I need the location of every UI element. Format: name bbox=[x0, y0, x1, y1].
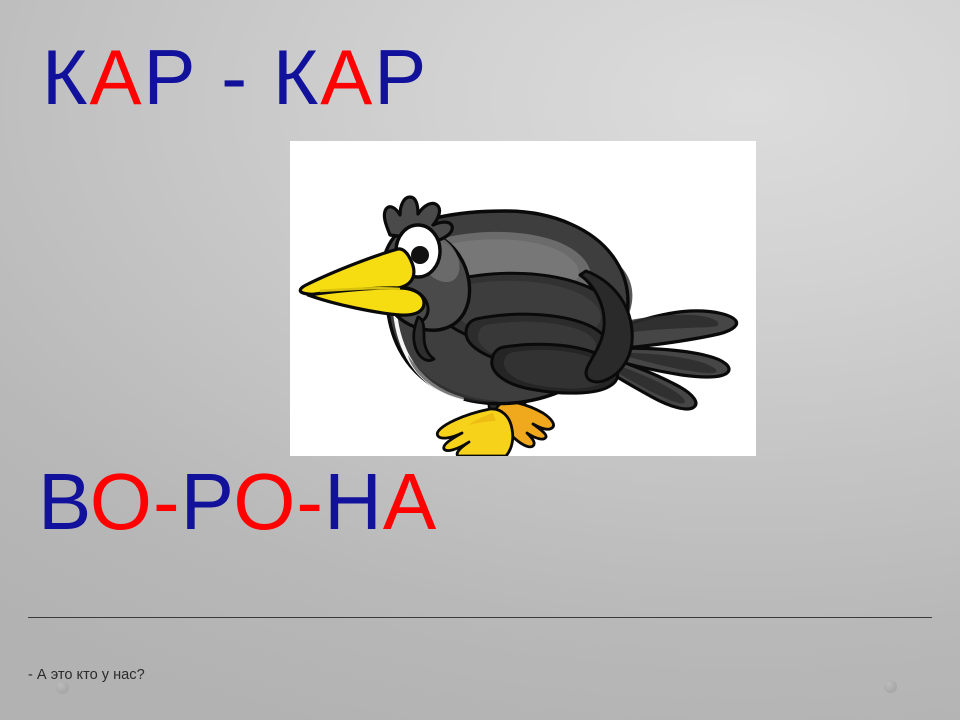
title-top-letter-k2: К bbox=[273, 33, 320, 121]
title-bottom-hyphen-1: - bbox=[153, 457, 181, 546]
title-top-letter-r1: Р bbox=[143, 33, 197, 121]
title-bottom-letter-n: Н bbox=[324, 457, 383, 546]
slide-canvas: КАР - КАР bbox=[0, 0, 960, 720]
notes-text-block: - А это кто у нас? - Давай прочитаем сна… bbox=[28, 622, 938, 720]
notes-line-1: - А это кто у нас? bbox=[28, 665, 938, 687]
title-top-letter-a1: А bbox=[89, 33, 143, 121]
title-top-letter-a2: А bbox=[320, 33, 374, 121]
crow-image-frame bbox=[290, 141, 756, 456]
title-bottom-letter-a: А bbox=[383, 457, 437, 546]
bullet-dot-left-icon bbox=[56, 681, 69, 694]
title-top-dash: - bbox=[198, 33, 273, 121]
title-bottom-letter-r: Р bbox=[181, 457, 234, 546]
title-bottom-letter-o1: О bbox=[90, 457, 153, 546]
bullet-dot-right-icon bbox=[884, 680, 897, 693]
page-title-bottom: ВО-РО-НА bbox=[38, 462, 437, 542]
title-bottom-hyphen-2: - bbox=[296, 457, 324, 546]
title-top-letter-k1: К bbox=[42, 33, 89, 121]
title-bottom-letter-o2: О bbox=[233, 457, 296, 546]
title-top-letter-r2: Р bbox=[374, 33, 428, 121]
title-bottom-letter-v: В bbox=[38, 457, 90, 546]
crow-illustration-icon bbox=[290, 141, 756, 456]
horizontal-rule bbox=[28, 617, 932, 618]
page-title-top: КАР - КАР bbox=[42, 38, 428, 116]
